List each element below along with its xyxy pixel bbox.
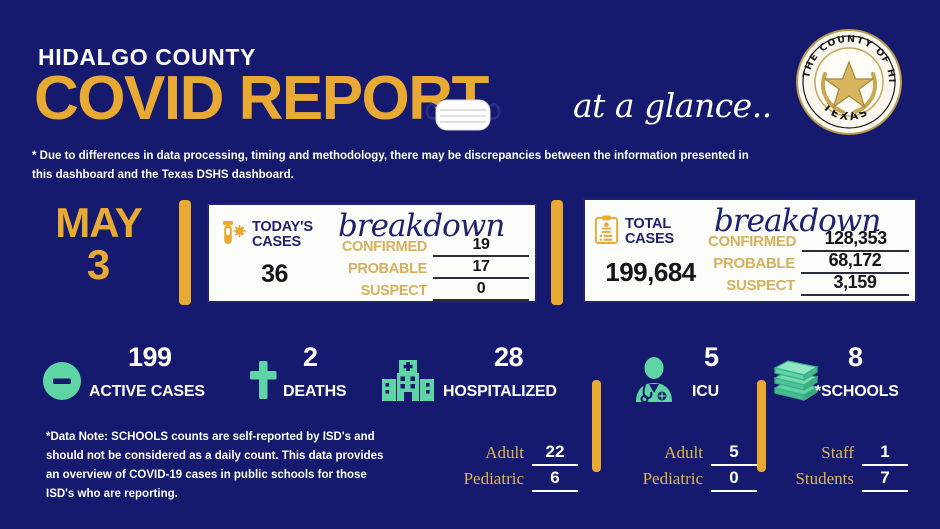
report-day: 3 bbox=[36, 244, 161, 286]
hidalgo-county-seal: THE COUNTY OF HIDALGO TEXAS bbox=[795, 28, 903, 136]
hospitalized-number: 28 bbox=[494, 342, 523, 373]
detail-label: Adult bbox=[432, 443, 524, 466]
schools-label: *SCHOOLS bbox=[815, 383, 899, 401]
detail-value: 0 bbox=[711, 468, 757, 492]
detail-row: Pediatric 0 bbox=[611, 466, 757, 492]
face-mask-icon bbox=[424, 88, 502, 140]
total-cases-card: TOTAL CASES 199,684 breakdown CONFIRMED … bbox=[583, 198, 917, 303]
todays-cases-summary: TODAY'S CASES 36 bbox=[209, 218, 332, 289]
icu-number: 5 bbox=[704, 342, 719, 373]
infographic-canvas: HIDALGO COUNTY COVID REPORT at a glance.… bbox=[0, 0, 940, 529]
breakdown-row: SUSPECT 0 bbox=[332, 279, 529, 301]
report-month: MAY bbox=[36, 202, 161, 244]
breakdown-value: 128,353 bbox=[802, 228, 909, 252]
breakdown-label: SUSPECT bbox=[361, 283, 427, 301]
total-cases-summary: TOTAL CASES 199,684 bbox=[585, 214, 708, 288]
page-title: COVID REPORT bbox=[34, 68, 488, 130]
total-cases-total: 199,684 bbox=[593, 257, 708, 288]
divider-bar-hospitalized bbox=[592, 380, 601, 472]
breakdown-value: 19 bbox=[433, 236, 529, 257]
breakdown-row: SUSPECT 3,159 bbox=[708, 274, 909, 296]
icu-label: ICU bbox=[692, 383, 719, 401]
detail-label: Adult bbox=[611, 443, 703, 466]
breakdown-row: PROBABLE 17 bbox=[332, 257, 529, 279]
breakdown-value: 0 bbox=[433, 280, 529, 301]
detail-value: 22 bbox=[532, 442, 578, 466]
detail-row: Pediatric 6 bbox=[432, 466, 578, 492]
minus-circle-icon bbox=[42, 361, 82, 406]
breakdown-value: 68,172 bbox=[801, 250, 909, 274]
detail-label: Students bbox=[772, 469, 854, 492]
breakdown-label: PROBABLE bbox=[348, 261, 427, 279]
disclaimer-text: * Due to differences in data processing,… bbox=[32, 147, 752, 185]
breakdown-label: SUSPECT bbox=[726, 277, 795, 296]
todays-cases-label-line1: TODAY'S bbox=[252, 219, 313, 235]
clipboard-icon bbox=[593, 214, 620, 250]
icu-detail-table: Adult 5 Pediatric 0 bbox=[611, 440, 757, 492]
total-cases-label-line1: TOTAL bbox=[625, 216, 671, 232]
header-glance-text: at a glance.. bbox=[573, 86, 772, 125]
detail-value: 5 bbox=[711, 442, 757, 466]
breakdown-label: CONFIRMED bbox=[708, 233, 796, 252]
detail-label: Pediatric bbox=[432, 469, 524, 492]
schools-number: 8 bbox=[848, 342, 863, 373]
detail-value: 1 bbox=[862, 442, 908, 466]
detail-row: Staff 1 bbox=[772, 440, 908, 466]
todays-cases-total: 36 bbox=[217, 260, 332, 289]
total-cases-label: TOTAL CASES bbox=[625, 217, 674, 247]
schools-detail-table: Staff 1 Students 7 bbox=[772, 440, 908, 492]
breakdown-row: CONFIRMED 19 bbox=[332, 235, 529, 257]
divider-bar-date bbox=[179, 200, 191, 305]
hospitalized-label: HOSPITALIZED bbox=[443, 383, 557, 401]
deaths-number: 2 bbox=[303, 342, 318, 373]
divider-bar-cards bbox=[551, 200, 563, 305]
total-cases-breakdown: breakdown CONFIRMED 128,353 PROBABLE 68,… bbox=[708, 200, 915, 301]
detail-label: Pediatric bbox=[611, 469, 703, 492]
todays-cases-card: TODAY'S CASES 36 breakdown CONFIRMED 19 … bbox=[207, 203, 537, 303]
breakdown-row: PROBABLE 68,172 bbox=[708, 252, 909, 274]
breakdown-value: 3,159 bbox=[801, 272, 909, 296]
detail-label: Staff bbox=[772, 443, 854, 466]
data-note-text: *Data Note: SCHOOLS counts are self-repo… bbox=[46, 428, 396, 504]
breakdown-row: CONFIRMED 128,353 bbox=[708, 230, 909, 252]
detail-row: Adult 5 bbox=[611, 440, 757, 466]
report-date: MAY 3 bbox=[36, 202, 161, 286]
deaths-label: DEATHS bbox=[283, 383, 346, 401]
breakdown-label: CONFIRMED bbox=[342, 239, 427, 257]
total-cases-label-line2: CASES bbox=[625, 231, 674, 247]
doctor-icon bbox=[631, 356, 677, 407]
hospital-icon bbox=[380, 358, 436, 407]
active-cases-number: 199 bbox=[128, 342, 172, 373]
hospitalized-detail-table: Adult 22 Pediatric 6 bbox=[432, 440, 578, 492]
breakdown-value: 17 bbox=[433, 258, 529, 279]
cross-icon bbox=[249, 360, 277, 405]
divider-bar-icu bbox=[757, 380, 766, 472]
active-cases-label: ACTIVE CASES bbox=[89, 383, 205, 401]
test-tube-virus-icon bbox=[217, 218, 247, 253]
books-icon bbox=[771, 356, 821, 407]
todays-cases-label-line2: CASES bbox=[252, 234, 301, 250]
todays-cases-label: TODAY'S CASES bbox=[252, 220, 313, 250]
detail-row: Students 7 bbox=[772, 466, 908, 492]
detail-row: Adult 22 bbox=[432, 440, 578, 466]
breakdown-label: PROBABLE bbox=[713, 255, 795, 274]
detail-value: 7 bbox=[862, 468, 908, 492]
todays-cases-breakdown: breakdown CONFIRMED 19 PROBABLE 17 SUSPE… bbox=[332, 205, 535, 301]
detail-value: 6 bbox=[532, 468, 578, 492]
